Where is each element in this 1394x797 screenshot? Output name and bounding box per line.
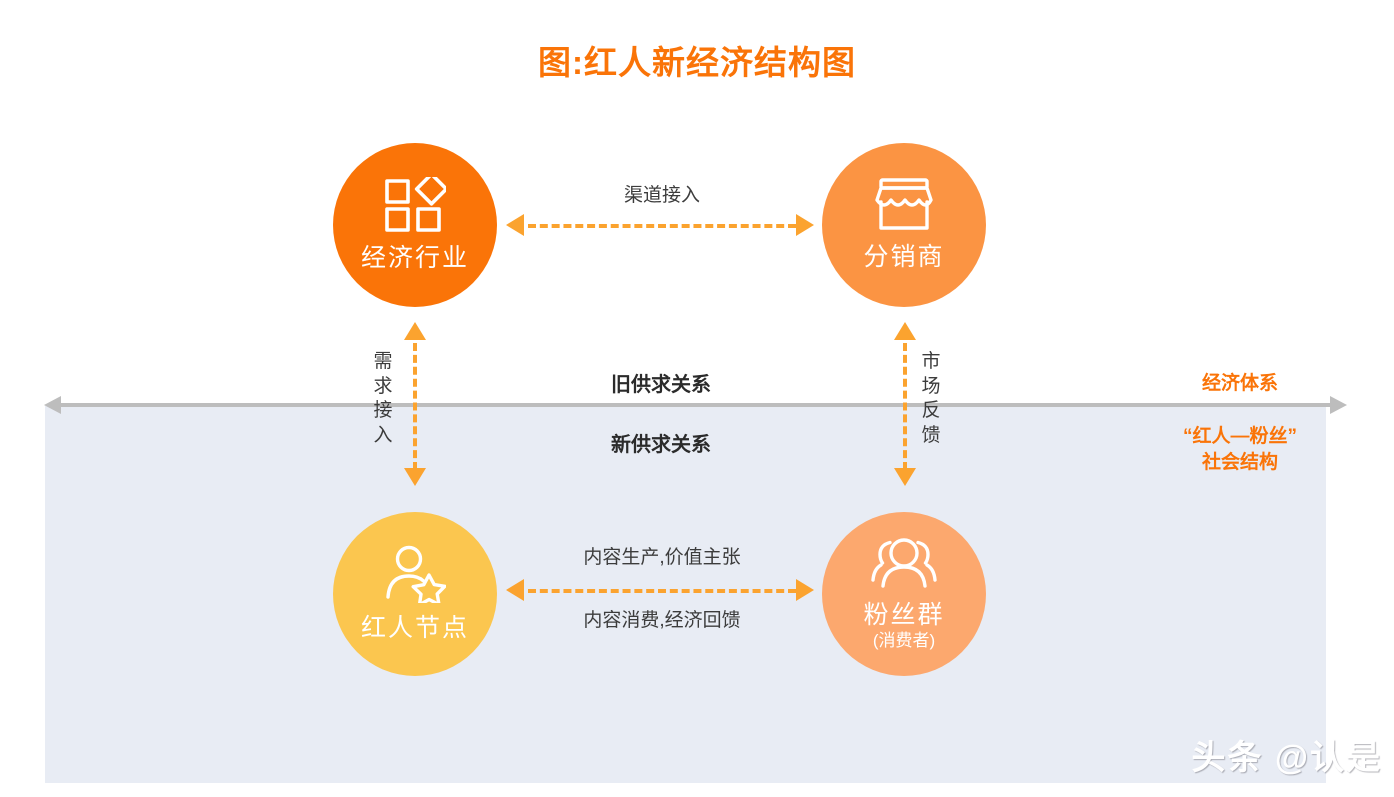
relation-label-old: 旧供求关系	[556, 368, 766, 397]
node-label: 分销商	[863, 243, 944, 272]
node-label: 经济行业	[361, 244, 469, 273]
connector-left-line	[413, 343, 417, 470]
connector-right-label: 市 场 反 馈	[918, 350, 944, 449]
connector-right-arrow-up-icon	[894, 322, 916, 340]
connector-left-label-char: 接	[370, 399, 396, 424]
connector-left-label-char: 入	[370, 424, 396, 449]
page-title: 图:红人新经济结构图	[0, 36, 1394, 84]
people-group-icon	[867, 536, 941, 595]
connector-bottom-line	[528, 589, 796, 593]
connector-left-label-char: 求	[370, 375, 396, 400]
node-label: 红人节点	[361, 614, 469, 643]
node-influencer[interactable]: 红人节点	[333, 512, 497, 676]
node-fan-group[interactable]: 粉丝群 (消费者)	[822, 512, 986, 676]
connector-right-label-char: 反	[918, 399, 944, 424]
connector-left-arrow-down-icon	[404, 468, 426, 486]
connector-left-label-char: 需	[370, 350, 396, 375]
horizontal-axis-line	[60, 403, 1332, 407]
connector-top-line	[528, 224, 796, 228]
region-label-economy: 经济体系	[1150, 368, 1330, 395]
connector-right-label-char: 馈	[918, 424, 944, 449]
region-label-social-line1: “红人—粉丝”	[1150, 424, 1330, 450]
connector-top-arrow-right-icon	[796, 214, 814, 236]
connector-left-arrow-up-icon	[404, 322, 426, 340]
diagram-canvas: 图:红人新经济结构图 经济行业 分销商	[0, 0, 1394, 797]
watermark: 头条 @认是	[1191, 730, 1382, 779]
region-label-social-line2: 社会结构	[1150, 450, 1330, 476]
connector-bottom-arrow-right-icon	[796, 579, 814, 601]
connector-top-label: 渠道接入	[528, 180, 796, 207]
node-economic-industry[interactable]: 经济行业	[333, 143, 497, 307]
connector-top-arrow-left-icon	[506, 214, 524, 236]
person-star-icon	[384, 545, 446, 608]
node-sublabel: (消费者)	[873, 630, 935, 652]
connector-right-label-char: 场	[918, 375, 944, 400]
connector-right-arrow-down-icon	[894, 468, 916, 486]
connector-right-label-char: 市	[918, 350, 944, 375]
node-label: 粉丝群	[863, 601, 944, 630]
connector-bottom-label-bottom: 内容消费,经济回馈	[508, 605, 816, 632]
axis-arrow-right-icon	[1330, 396, 1347, 414]
relation-label-new: 新供求关系	[556, 428, 766, 457]
connector-bottom-label-top: 内容生产,价值主张	[508, 542, 816, 569]
connector-left-label: 需 求 接 入	[370, 350, 396, 449]
storefront-icon	[874, 178, 934, 237]
grid-squares-diamond-icon	[384, 177, 446, 238]
axis-arrow-left-icon	[44, 396, 61, 414]
region-label-social-structure: “红人—粉丝” 社会结构	[1150, 424, 1330, 475]
connector-bottom-arrow-left-icon	[506, 579, 524, 601]
lower-region-panel	[45, 406, 1326, 783]
node-distributor[interactable]: 分销商	[822, 143, 986, 307]
connector-right-line	[903, 343, 907, 470]
